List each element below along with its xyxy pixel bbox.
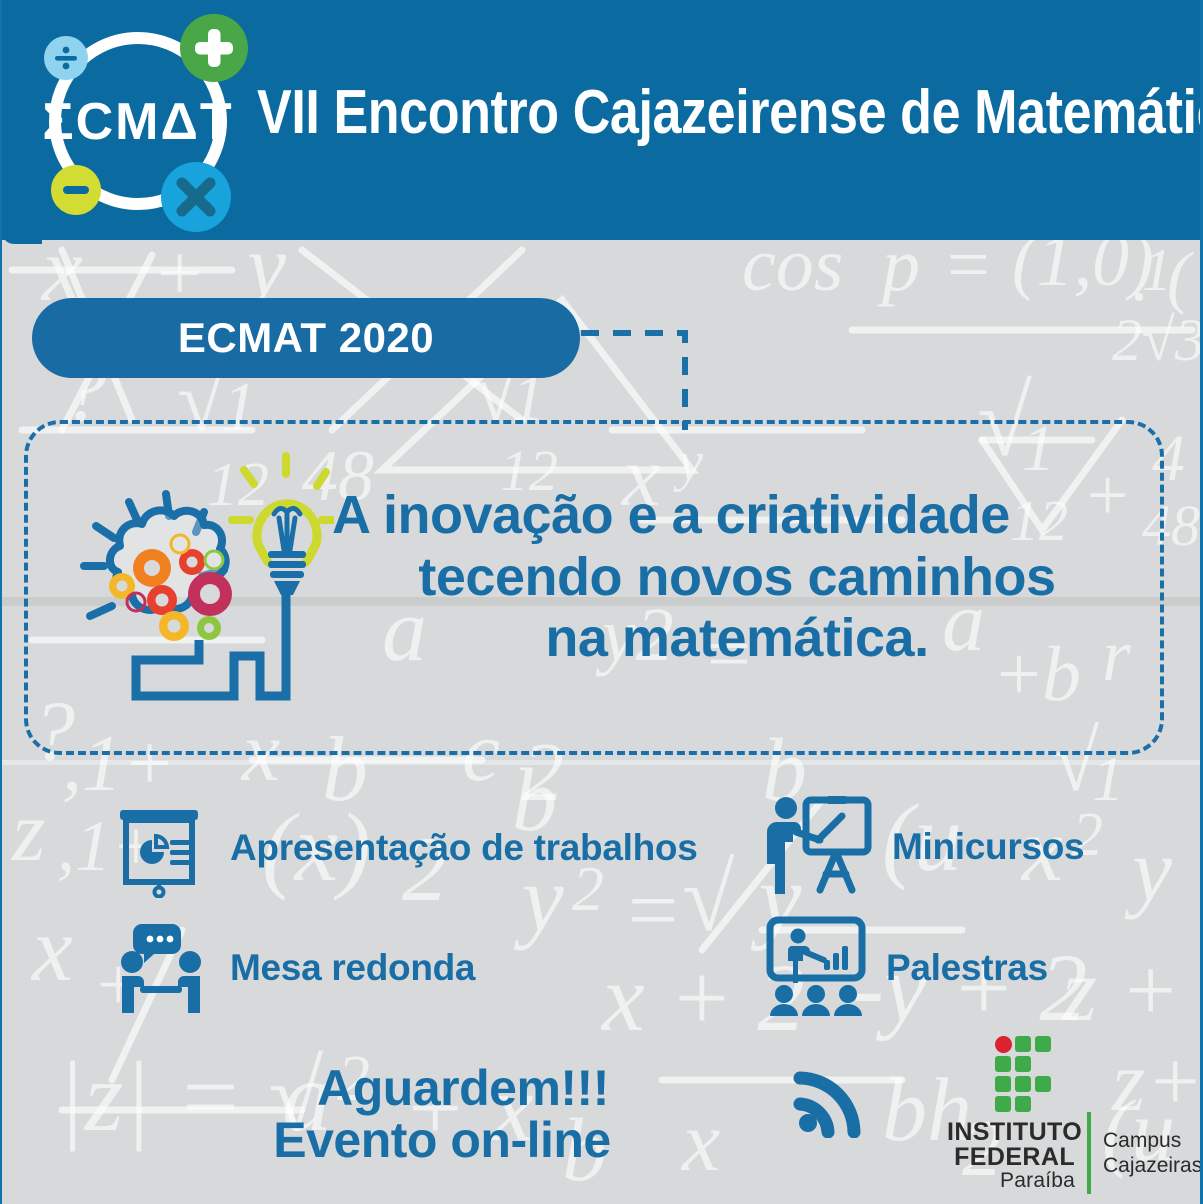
ifpb-name-line-2: FEDERAL [947, 1145, 1075, 1170]
svg-text:1: 1 [1142, 237, 1172, 303]
ifpb-square [995, 1096, 1011, 1112]
ecmat-logo: ΣCMΔT [24, 8, 252, 234]
ifpb-logo-grid [995, 1036, 1069, 1114]
ifpb-square [1015, 1056, 1031, 1072]
header-bar: ΣCMΔT VII Encontro Cajazeirense de Matem… [2, 0, 1203, 240]
activity-label: Minicursos [892, 826, 1084, 868]
whiteboard-instructor-icon [764, 794, 874, 899]
announcement-line-1: Aguardem!!! [2, 1062, 902, 1114]
ifpb-square [1035, 1036, 1051, 1052]
activity-item-apresentacao: Apresentação de trabalhos [112, 798, 697, 898]
roundtable-discussion-icon [112, 918, 212, 1018]
ifpb-name-line-1: INSTITUTO [947, 1120, 1075, 1145]
ifpb-square [1015, 1096, 1031, 1112]
announcement-text: Aguardem!!! Evento on-line [2, 1062, 902, 1166]
theme-line-1: A inovação e a criatividade [332, 485, 1142, 547]
activity-label: Apresentação de trabalhos [230, 827, 697, 869]
times-icon [161, 162, 231, 232]
event-title: VII Encontro Cajazeirense de Matemática [257, 82, 1203, 144]
plus-icon [180, 14, 248, 82]
wifi-broadcast-icon [792, 1068, 862, 1138]
ifpb-square [1035, 1076, 1051, 1092]
ifpb-wordmark: INSTITUTO FEDERAL Paraíba [947, 1120, 1075, 1193]
activity-item-palestras: Palestras [764, 916, 1048, 1020]
ecmat-wordmark: ΣCMΔT [42, 93, 233, 151]
ifpb-square [995, 1056, 1011, 1072]
ifpb-square [995, 1076, 1011, 1092]
theme-statement: A inovação e a criatividade tecendo novo… [332, 485, 1142, 670]
activity-item-minicursos: Minicursos [764, 794, 1084, 899]
ifpb-logo: INSTITUTO FEDERAL Paraíba Campus Cajazei… [947, 1036, 1187, 1196]
presentation-chart-icon [112, 798, 212, 898]
ifpb-square [1015, 1036, 1031, 1052]
activities-list: Apresentação de trabalhos [2, 790, 1203, 1040]
ifpb-square [1015, 1076, 1031, 1092]
background-band-lower [2, 760, 1200, 765]
activity-item-mesa-redonda: Mesa redonda [112, 918, 475, 1018]
ifpb-campus-line-1: Campus [1103, 1128, 1203, 1153]
announcement-line-2: Evento on-line [2, 1114, 902, 1166]
minus-icon [51, 165, 101, 215]
ifpb-state: Paraíba [947, 1169, 1075, 1193]
ifpb-divider [1087, 1112, 1091, 1194]
svg-text:. (: . ( [1132, 239, 1194, 316]
poster-root: x + y cos p = (1,0) . ( 1 2√3 ? √ 1 12 4… [0, 0, 1203, 1204]
activity-label: Mesa redonda [230, 947, 475, 989]
dashed-connector-line [577, 300, 707, 435]
ifpb-campus-line-2: Cajazeiras [1103, 1153, 1203, 1178]
brain-gears-lightbulb-icon [74, 448, 334, 708]
lecture-audience-icon [764, 916, 868, 1020]
ecmat-2020-badge: ECMAT 2020 [32, 298, 580, 378]
theme-line-2: tecendo novos caminhos [332, 547, 1142, 609]
ifpb-red-dot [995, 1036, 1012, 1053]
badge-label: ECMAT 2020 [178, 314, 434, 362]
svg-text:2√3: 2√3 [1112, 307, 1200, 373]
divide-icon [44, 36, 88, 80]
activity-label: Palestras [886, 947, 1048, 989]
ifpb-campus: Campus Cajazeiras [1103, 1128, 1203, 1178]
theme-line-3: na matemática. [332, 608, 1142, 670]
